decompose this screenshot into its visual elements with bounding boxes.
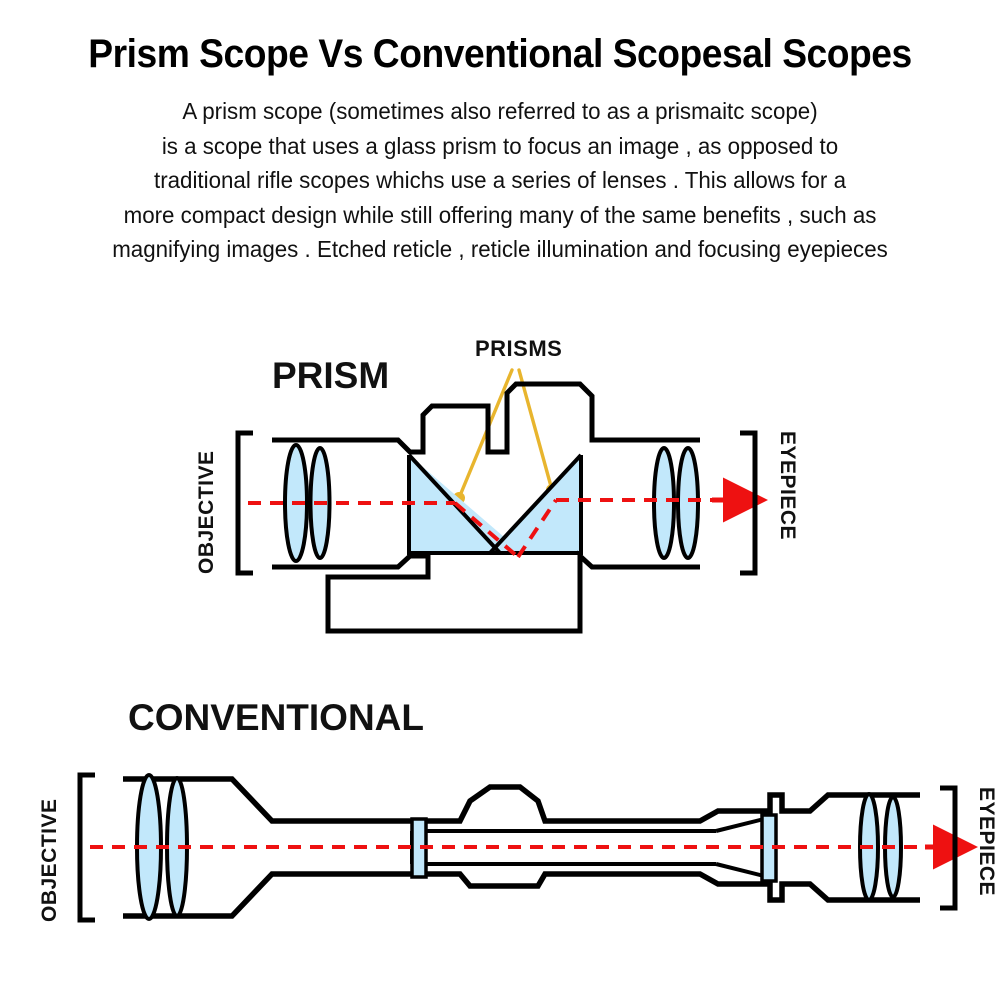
description-line: traditional rifle scopes whichs use a se…	[44, 163, 956, 198]
prism-scope-diagram: PRISM PRISMS	[0, 300, 1000, 660]
description-line: is a scope that uses a glass prism to fo…	[44, 129, 956, 164]
page-title: Prism Scope Vs Conventional Scopesal Sco…	[35, 30, 965, 78]
objective-label: OBJECTIVE	[195, 450, 218, 574]
conventional-body-upper	[123, 779, 920, 821]
prism-heading: PRISM	[272, 355, 389, 396]
prisms-callout-label: PRISMS	[475, 336, 562, 361]
conventional-heading: CONVENTIONAL	[128, 697, 424, 738]
objective-label: OBJECTIVE	[38, 798, 61, 922]
infographic-page: Prism Scope Vs Conventional Scopesal Sco…	[0, 0, 1000, 1000]
description-line: A prism scope (sometimes also referred t…	[44, 94, 956, 129]
eyepiece-bracket-right	[740, 433, 755, 573]
description-paragraph: A prism scope (sometimes also referred t…	[44, 94, 956, 267]
eyepiece-lens-group	[654, 448, 698, 558]
description-line: magnifying images . Etched reticle , ret…	[44, 232, 956, 267]
prism-housing-lower	[272, 556, 700, 631]
conventional-body-lower	[123, 874, 920, 916]
conventional-scope-diagram: CONVENTIONAL	[0, 670, 1000, 960]
description-line: more compact design while still offering…	[44, 198, 956, 233]
eyepiece-label: EYEPIECE	[776, 431, 799, 540]
eyepiece-label: EYEPIECE	[975, 787, 998, 896]
eyepiece-bracket-right	[940, 788, 955, 908]
